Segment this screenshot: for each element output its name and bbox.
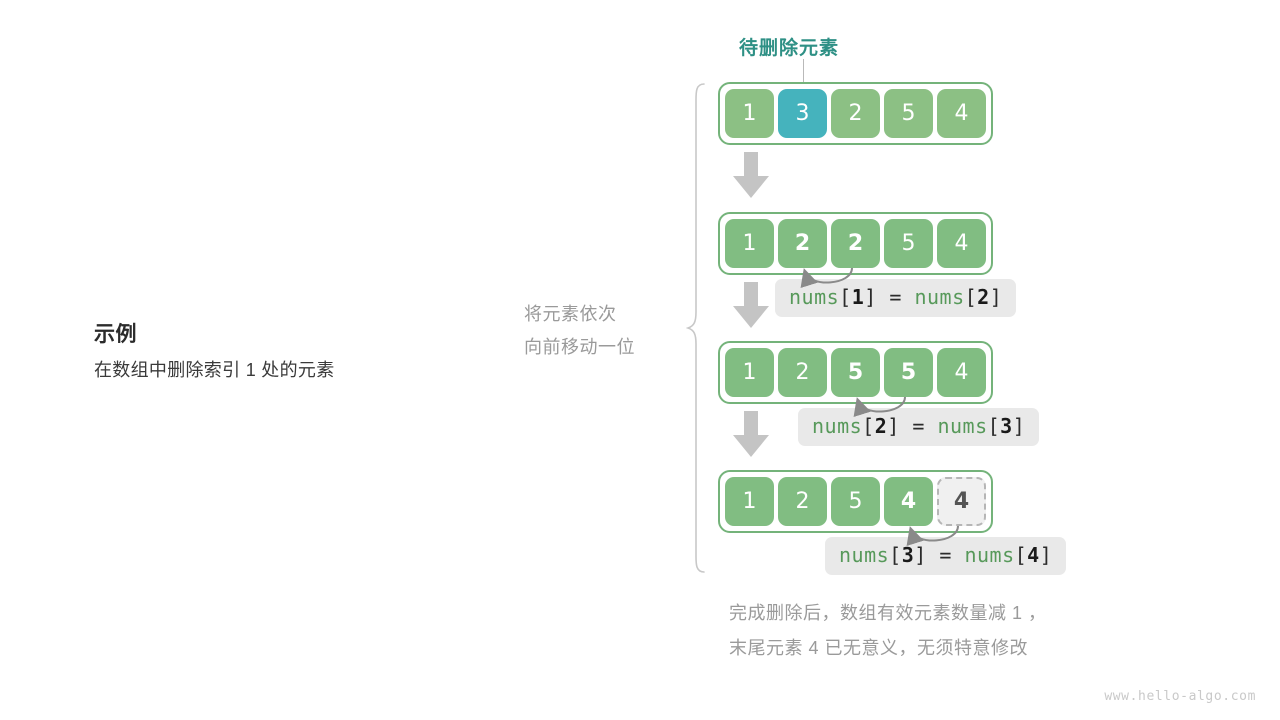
array-row-shift-1: 1 2 2 5 4 <box>718 212 993 275</box>
array-cell[interactable]: 1 <box>725 348 774 397</box>
code-bracket-open: [ <box>839 285 852 309</box>
code-identifier: nums <box>839 543 889 567</box>
code-bracket-open: [ <box>965 285 978 309</box>
code-index: 1 <box>852 285 865 309</box>
array-cell[interactable]: 5 <box>884 89 933 138</box>
code-bracket-open: [ <box>862 414 875 438</box>
code-bracket-close: ] <box>1040 543 1053 567</box>
array-cell-source[interactable]: 2 <box>831 219 880 268</box>
array-cell[interactable]: 5 <box>884 219 933 268</box>
code-index: 4 <box>1027 543 1040 567</box>
code-bracket-close: ] <box>914 543 927 567</box>
diagram-canvas: 示例 在数组中删除索引 1 处的元素 将元素依次 向前移动一位 待删除元素 1 … <box>0 0 1280 720</box>
left-curly-brace-icon <box>686 82 710 579</box>
code-identifier: nums <box>964 543 1014 567</box>
array-cell-modified[interactable]: 2 <box>778 219 827 268</box>
shift-note-line-2: 向前移动一位 <box>524 331 694 364</box>
array-cell[interactable]: 1 <box>725 477 774 526</box>
array-cell-modified[interactable]: 5 <box>831 348 880 397</box>
array-cell[interactable]: 2 <box>778 477 827 526</box>
code-identifier: nums <box>937 414 987 438</box>
code-index: 2 <box>977 285 990 309</box>
code-bracket-close: ] <box>887 414 900 438</box>
array-cell[interactable]: 2 <box>778 348 827 397</box>
code-bracket-close: ] <box>864 285 877 309</box>
down-arrow-icon <box>731 411 771 464</box>
array-cell[interactable]: 4 <box>937 219 986 268</box>
completion-note-line-2: 末尾元素 4 已无意义，无须特意修改 <box>729 631 1047 666</box>
code-label-assign-1: nums[1] = nums[2] <box>775 279 1016 317</box>
array-cell[interactable]: 4 <box>937 89 986 138</box>
shift-note-line-1: 将元素依次 <box>524 298 694 331</box>
example-title: 示例 <box>94 322 514 347</box>
down-arrow-icon <box>731 152 771 205</box>
down-arrow-icon <box>731 282 771 335</box>
code-operator: = <box>912 414 925 438</box>
site-watermark: www.hello-algo.com <box>1104 689 1256 704</box>
code-index: 3 <box>1000 414 1013 438</box>
array-cell-modified[interactable]: 4 <box>884 477 933 526</box>
array-cell[interactable]: 1 <box>725 89 774 138</box>
target-element-caption: 待删除元素 <box>739 33 839 60</box>
example-subtitle: 在数组中删除索引 1 处的元素 <box>94 359 514 382</box>
code-bracket-open: [ <box>988 414 1001 438</box>
code-bracket-open: [ <box>889 543 902 567</box>
shift-description-note: 将元素依次 向前移动一位 <box>524 298 694 365</box>
array-cell[interactable]: 2 <box>831 89 880 138</box>
array-cell[interactable]: 4 <box>937 348 986 397</box>
array-cell-source[interactable]: 5 <box>884 348 933 397</box>
code-operator: = <box>939 543 952 567</box>
array-cell-obsolete[interactable]: 4 <box>937 477 986 526</box>
code-identifier: nums <box>812 414 862 438</box>
array-row-shift-3: 1 2 5 4 4 <box>718 470 993 533</box>
code-index: 3 <box>902 543 915 567</box>
completion-note: 完成删除后，数组有效元素数量减 1 ， 末尾元素 4 已无意义，无须特意修改 <box>729 596 1047 666</box>
array-cell[interactable]: 1 <box>725 219 774 268</box>
code-bracket-open: [ <box>1015 543 1028 567</box>
example-text-block: 示例 在数组中删除索引 1 处的元素 <box>94 322 514 383</box>
code-label-assign-3: nums[3] = nums[4] <box>825 537 1066 575</box>
code-label-assign-2: nums[2] = nums[3] <box>798 408 1039 446</box>
array-cell-target[interactable]: 3 <box>778 89 827 138</box>
code-operator: = <box>889 285 902 309</box>
code-bracket-close: ] <box>1013 414 1026 438</box>
array-row-initial: 1 3 2 5 4 <box>718 82 993 145</box>
array-cell[interactable]: 5 <box>831 477 880 526</box>
code-index: 2 <box>875 414 888 438</box>
code-bracket-close: ] <box>990 285 1003 309</box>
array-row-shift-2: 1 2 5 5 4 <box>718 341 993 404</box>
code-identifier: nums <box>789 285 839 309</box>
code-identifier: nums <box>914 285 964 309</box>
completion-note-line-1: 完成删除后，数组有效元素数量减 1 ， <box>729 596 1047 631</box>
